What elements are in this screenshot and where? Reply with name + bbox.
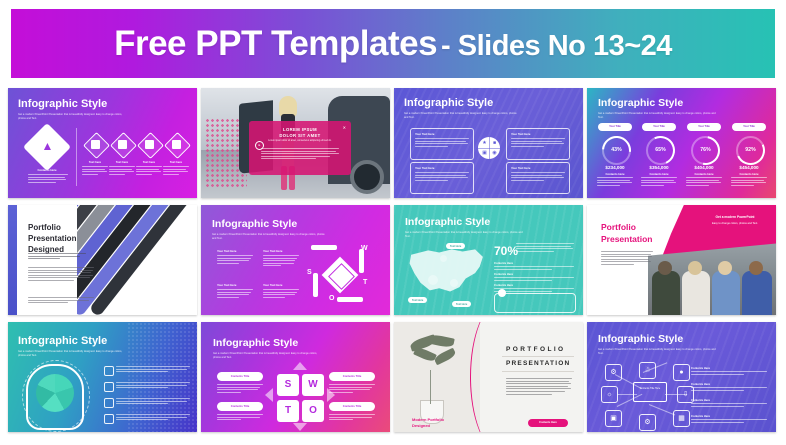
info-box-3-heading: Your Text Here bbox=[415, 166, 434, 170]
slide3-subtitle: Get a modern PowerPoint Presentation tha… bbox=[404, 112, 519, 120]
slide3-title: Infographic Style bbox=[404, 98, 493, 109]
slide1-subtitle: Get a modern PowerPoint Presentation tha… bbox=[18, 113, 128, 121]
map-tag-3: Text Here bbox=[452, 301, 471, 307]
list-heading-1: Contents Here bbox=[494, 261, 513, 265]
slide12-title: Infographic Style bbox=[598, 334, 683, 345]
row-4-body bbox=[116, 414, 190, 422]
slide12-row-4-heading: Contents Here bbox=[691, 414, 710, 418]
vertical-divider bbox=[76, 128, 77, 186]
bulb-icon: ☼ bbox=[601, 386, 618, 403]
callout-dot bbox=[498, 289, 506, 297]
diamond-4-label: Text here bbox=[163, 160, 189, 164]
row-3-icon bbox=[104, 398, 114, 408]
list-heading-2: Contents Here bbox=[494, 272, 513, 276]
row-4-icon bbox=[104, 414, 114, 424]
slide12-row-2-heading: Contents Here bbox=[691, 382, 710, 386]
diamond-1-label: Text here bbox=[82, 160, 108, 164]
pill-2-body bbox=[217, 414, 263, 422]
stat-amount-3: $404,000 bbox=[684, 165, 724, 170]
slide5-title-line2: Presentation bbox=[28, 234, 76, 243]
gear-icon: ⚙ bbox=[605, 364, 622, 381]
stat-body-3 bbox=[686, 177, 722, 187]
pill-1-body bbox=[217, 384, 263, 394]
donut-2-percent: 65% bbox=[648, 138, 673, 163]
donut-3-percent: 76% bbox=[693, 138, 718, 163]
slide10-title: Infographic Style bbox=[213, 338, 298, 349]
arrow-left-icon bbox=[265, 388, 273, 402]
swot-q1-heading: Your Text Here bbox=[217, 249, 236, 253]
swot-square-w: W bbox=[302, 374, 324, 396]
callout-bubble bbox=[494, 293, 576, 313]
shield-icon bbox=[118, 140, 127, 149]
slide8-title: Portfolio Presentation bbox=[601, 221, 653, 246]
slide9-title: Infographic Style bbox=[18, 336, 107, 347]
diamond-2-label: Text here bbox=[109, 160, 135, 164]
page-title: Free PPT Templates - Slides No 13~24 bbox=[114, 24, 672, 64]
slide10-subtitle: Get a modern PowerPoint Presentation tha… bbox=[213, 352, 323, 360]
diamond-2-body bbox=[109, 166, 135, 176]
info-box-3-body bbox=[415, 172, 469, 182]
stat-pill-3: Your Title bbox=[687, 123, 721, 131]
slide-thumbnail-1[interactable]: Infographic Style Get a modern PowerPoin… bbox=[8, 88, 197, 198]
cycle-arrow-top bbox=[311, 245, 337, 250]
map-tag-1: Text Here bbox=[446, 243, 465, 249]
stat-caption-1: Contents Here bbox=[595, 172, 635, 176]
book-icon: ▣ bbox=[480, 149, 489, 158]
pill-4-body bbox=[329, 414, 375, 422]
swot-q4-body bbox=[263, 289, 299, 299]
stat-caption-3: Contents Here bbox=[684, 172, 724, 176]
target-icon bbox=[91, 140, 100, 149]
slide5-title: Portfolio Presentation Designed bbox=[28, 223, 76, 255]
swot-q2-heading: Your Text Here bbox=[263, 249, 282, 253]
kid-4-head bbox=[749, 261, 763, 275]
donut-4-percent: 92% bbox=[738, 138, 763, 163]
swot-q3-body bbox=[217, 289, 253, 299]
pill-4: Contents Title bbox=[329, 402, 375, 411]
slide8-right-sub: Easy to change colors, photos and Text. bbox=[702, 222, 768, 226]
map-pin-1 bbox=[428, 275, 438, 285]
card-title: LOREM IPSUM DOLOR SIT AMET bbox=[249, 127, 351, 140]
donut-1-percent: 43% bbox=[604, 138, 629, 163]
info-box-1-body bbox=[415, 138, 469, 148]
stat-percent: 70% bbox=[494, 244, 518, 258]
swot-letter-w: W bbox=[361, 245, 368, 252]
donut-1: 43% bbox=[602, 136, 631, 165]
swot-letter-o: O bbox=[329, 295, 334, 302]
cycle-arrow-right bbox=[359, 249, 364, 273]
slide12-row-3-body bbox=[691, 403, 767, 408]
list-body-2 bbox=[494, 277, 574, 282]
swot-square-s: S bbox=[277, 374, 299, 396]
slide5-body-1 bbox=[28, 267, 94, 283]
diamond-3-label: Text here bbox=[136, 160, 162, 164]
left-accent-bar bbox=[8, 205, 17, 315]
list-body-1 bbox=[494, 266, 574, 271]
arrow-up-icon bbox=[293, 362, 307, 370]
stat-amount-1: $234,000 bbox=[595, 165, 635, 170]
users-icon: ☃ bbox=[639, 362, 656, 379]
card-title-line2: DOLOR SIT AMET bbox=[279, 133, 320, 138]
slide8-right-title: Get a modern PowerPoint bbox=[702, 215, 768, 219]
rocket-icon: ▲ bbox=[41, 140, 54, 153]
laptop-center-node: Contents Title Here bbox=[633, 382, 667, 402]
slide9-subtitle: Get a modern PowerPoint Presentation tha… bbox=[18, 350, 130, 358]
slide-thumbnail-5[interactable]: Portfolio Presentation Designed bbox=[8, 205, 197, 315]
stat-amount-4: $454,000 bbox=[729, 165, 769, 170]
donut-4: 92% bbox=[736, 136, 765, 165]
map-pin-2 bbox=[450, 279, 458, 287]
stat-amount-2: $354,000 bbox=[639, 165, 679, 170]
kid-1 bbox=[652, 271, 680, 315]
kid-2 bbox=[682, 271, 710, 315]
stat-percent-note bbox=[516, 243, 574, 253]
kid-3-head bbox=[718, 261, 732, 275]
stat-pill-4: Your Title bbox=[732, 123, 766, 131]
kid-3 bbox=[712, 271, 740, 315]
kid-1-head bbox=[658, 261, 672, 275]
slide11-badge: Modern Portfolio Designed bbox=[412, 417, 444, 428]
slide7-title: Infographic Style bbox=[405, 217, 490, 228]
pill-3-body bbox=[329, 384, 375, 394]
slide11-title-line2: PRESENTATION bbox=[506, 360, 570, 367]
swot-square-o: O bbox=[302, 400, 324, 422]
slide1-hero-label: Contents Here bbox=[34, 168, 60, 172]
swot-q1-body bbox=[217, 255, 253, 265]
slide-thumbnail-3[interactable]: Infographic Style Get a modern PowerPoin… bbox=[394, 88, 583, 198]
slide11-badge-line2: Designed bbox=[412, 423, 430, 428]
slide7-subtitle: Get a modern PowerPoint Presentation tha… bbox=[405, 231, 525, 239]
slide-thumbnail-6[interactable]: Infographic Style Get a modern PowerPoin… bbox=[201, 205, 390, 315]
diamond-4-body bbox=[163, 166, 189, 176]
stat-pill-2: Your Title bbox=[642, 123, 676, 131]
cycle-arrow-bottom bbox=[337, 297, 363, 302]
slide-thumbnail-7[interactable]: Infographic Style Get a modern PowerPoin… bbox=[394, 205, 583, 315]
slide12-row-2-body bbox=[691, 387, 767, 392]
pill-1: Contents Title bbox=[217, 372, 263, 381]
pin-icon: ★ bbox=[480, 139, 489, 148]
swot-q3-heading: Your Text Here bbox=[217, 283, 236, 287]
title-rule-top bbox=[502, 356, 574, 357]
kid-4 bbox=[742, 271, 772, 315]
stat-body-1 bbox=[597, 177, 633, 187]
stat-body-2 bbox=[641, 177, 677, 187]
slide-grid: Infographic Style Get a modern PowerPoin… bbox=[8, 88, 778, 436]
header-banner: Free PPT Templates - Slides No 13~24 bbox=[11, 9, 775, 78]
swot-letter-s: S bbox=[307, 269, 312, 276]
circle-icon: ● bbox=[673, 364, 690, 381]
slide8-body bbox=[601, 251, 653, 267]
slide-thumbnail-2[interactable]: ✕ ► LOREM IPSUM DOLOR SIT AMET Lorem ips… bbox=[201, 88, 390, 198]
calendar-icon: ▦ bbox=[673, 410, 690, 427]
card-body bbox=[261, 148, 339, 161]
slide-thumbnail-8[interactable]: Portfolio Presentation Get a modern Powe… bbox=[587, 205, 776, 315]
info-box-4-heading: Your Text Here bbox=[511, 166, 530, 170]
pill-3: Contents Title bbox=[329, 372, 375, 381]
slide11-title-line1: PORTFOLIO bbox=[506, 346, 566, 353]
row-3-body bbox=[116, 398, 190, 406]
info-box-2-body bbox=[511, 138, 565, 148]
slide12-subtitle: Get a modern PowerPoint Presentation tha… bbox=[598, 348, 716, 356]
info-box-4-body bbox=[511, 172, 565, 182]
swot-square-t: T bbox=[277, 400, 299, 422]
slide5-lead bbox=[28, 253, 86, 261]
cycle-arrow-left bbox=[313, 273, 318, 297]
diagonal-bars bbox=[77, 205, 197, 315]
box-icon bbox=[145, 140, 154, 149]
row-2-body bbox=[116, 382, 190, 390]
slide6-title: Infographic Style bbox=[212, 219, 297, 230]
info-box-4: Your Text Here bbox=[506, 162, 570, 194]
info-box-1-heading: Your Text Here bbox=[415, 132, 434, 136]
slide11-body bbox=[506, 378, 572, 396]
slide1-hero-body bbox=[28, 174, 68, 184]
slide8-title-line1: Portfolio bbox=[601, 222, 636, 232]
info-box-2: Your Text Here bbox=[506, 128, 570, 160]
diamond-1-body bbox=[82, 166, 108, 176]
row-2-icon bbox=[104, 382, 114, 392]
kid-2-head bbox=[688, 261, 702, 275]
stat-body-4 bbox=[731, 177, 767, 187]
page-root: Free PPT Templates - Slides No 13~24 Inf… bbox=[0, 0, 786, 445]
row-1-body bbox=[116, 366, 190, 374]
image-icon: ▣ bbox=[605, 410, 622, 427]
slide11-badge-line1: Modern Portfolio bbox=[412, 417, 444, 422]
contents-button[interactable]: Contents Here bbox=[528, 419, 568, 427]
info-box-2-heading: Your Text Here bbox=[511, 132, 530, 136]
card-title-line1: LOREM IPSUM bbox=[283, 127, 317, 132]
slide4-subtitle: Get a modern PowerPoint Presentation tha… bbox=[598, 112, 718, 120]
swot-q2-body bbox=[263, 255, 299, 268]
slide5-title-line1: Portfolio bbox=[28, 223, 61, 232]
donut-3: 76% bbox=[691, 136, 720, 165]
arrow-down-icon bbox=[293, 423, 307, 431]
chart-icon: ■ bbox=[490, 139, 499, 148]
row-1-icon bbox=[104, 366, 114, 376]
info-box-3: Your Text Here bbox=[410, 162, 474, 194]
banner-title-sub: - Slides No 13~24 bbox=[441, 30, 672, 62]
gear-icon bbox=[172, 140, 181, 149]
info-box-1: Your Text Here bbox=[410, 128, 474, 160]
map-tag-2: Text Here bbox=[408, 297, 427, 303]
slide5-body-2 bbox=[28, 297, 94, 305]
slide-thumbnail-4[interactable]: Infographic Style Get a modern PowerPoin… bbox=[587, 88, 776, 198]
slide4-title: Infographic Style bbox=[598, 98, 683, 109]
overlay-card: ✕ ► LOREM IPSUM DOLOR SIT AMET Lorem ips… bbox=[249, 121, 351, 175]
slide-thumbnail-12[interactable]: Infographic Style Get a modern PowerPoin… bbox=[587, 322, 776, 432]
plant-stem bbox=[430, 370, 431, 404]
slide-thumbnail-10[interactable]: Infographic Style Get a modern PowerPoin… bbox=[201, 322, 390, 432]
brain-pie bbox=[36, 374, 74, 412]
swot-cycle: S W T O bbox=[307, 243, 373, 305]
stat-caption-4: Contents Here bbox=[729, 172, 769, 176]
slide12-row-1-heading: Contents Here bbox=[691, 366, 710, 370]
slide-thumbnail-11[interactable]: PORTFOLIO PRESENTATION Contents Here Mod… bbox=[394, 322, 583, 432]
map-pin-3 bbox=[440, 255, 447, 262]
swot-letter-t: T bbox=[363, 279, 367, 286]
car-wheel bbox=[350, 160, 384, 194]
slide12-row-3-heading: Contents Here bbox=[691, 398, 710, 402]
slide-thumbnail-9[interactable]: Infographic Style Get a modern PowerPoin… bbox=[8, 322, 197, 432]
pink-curve bbox=[470, 322, 531, 432]
settings-icon: ⚙ bbox=[639, 414, 656, 431]
banner-title-main: Free PPT Templates bbox=[114, 24, 437, 63]
globe-icon: ◉ bbox=[490, 149, 499, 158]
list-heading-3: Contents Here bbox=[494, 283, 513, 287]
pill-2: Contents Title bbox=[217, 402, 263, 411]
slide8-title-line2: Presentation bbox=[601, 234, 653, 244]
slide1-title: Infographic Style bbox=[18, 99, 107, 110]
card-subtitle: Lorem ipsum dolor sit amet, consectetur … bbox=[249, 140, 351, 143]
swot-q4-heading: Your Text Here bbox=[263, 283, 282, 287]
donut-2: 65% bbox=[646, 136, 675, 165]
stat-pill-1: Your Title bbox=[598, 123, 632, 131]
slide12-row-4-body bbox=[691, 419, 767, 424]
title-rule-bottom bbox=[502, 371, 574, 372]
slide6-subtitle: Get a modern PowerPoint Presentation tha… bbox=[212, 233, 327, 241]
stat-caption-2: Contents Here bbox=[639, 172, 679, 176]
diamond-3-body bbox=[136, 166, 162, 176]
slide12-row-1-body bbox=[691, 371, 767, 376]
